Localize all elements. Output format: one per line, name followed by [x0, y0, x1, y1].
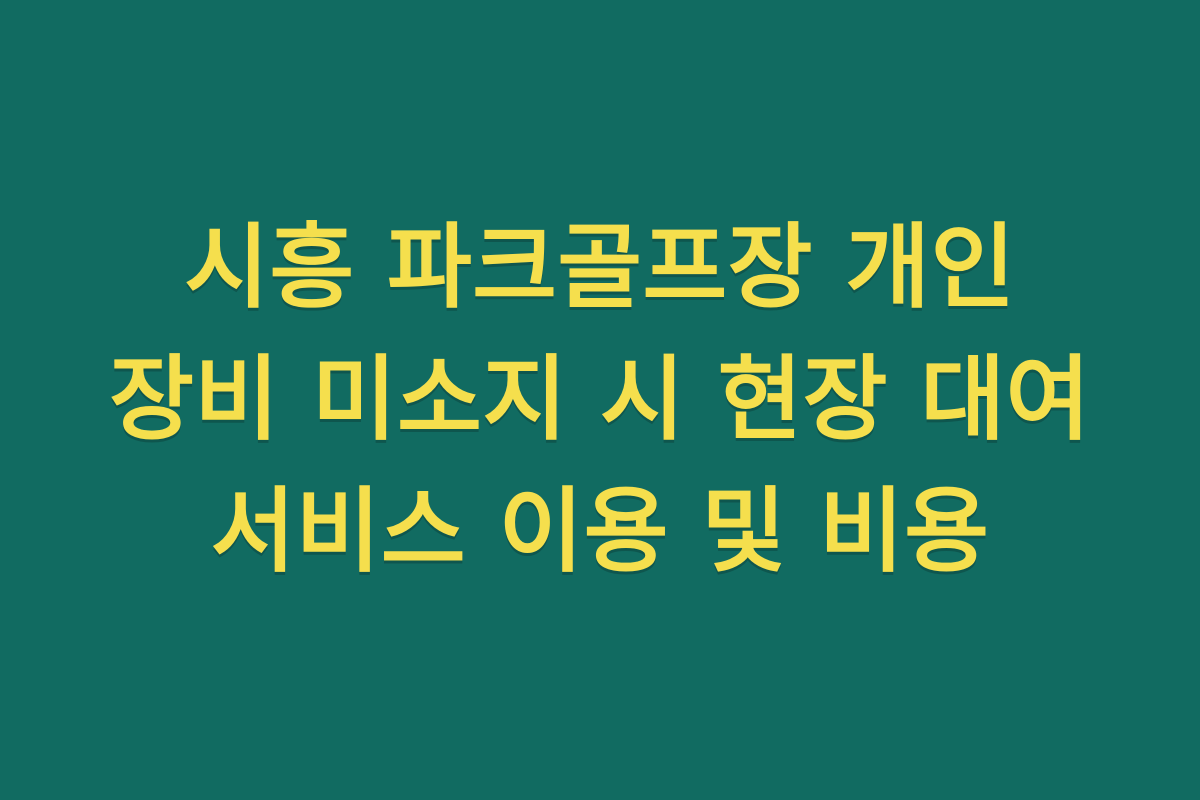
- headline-line-3: 서비스 이용 및 비용: [24, 466, 1176, 598]
- headline-line-2: 장비 미소지 시 현장 대여: [24, 334, 1176, 466]
- headline-block: 시흥 파크골프장 개인 장비 미소지 시 현장 대여 서비스 이용 및 비용: [0, 202, 1200, 598]
- banner-card: 시흥 파크골프장 개인 장비 미소지 시 현장 대여 서비스 이용 및 비용: [0, 0, 1200, 800]
- headline-line-1: 시흥 파크골프장 개인: [24, 202, 1176, 334]
